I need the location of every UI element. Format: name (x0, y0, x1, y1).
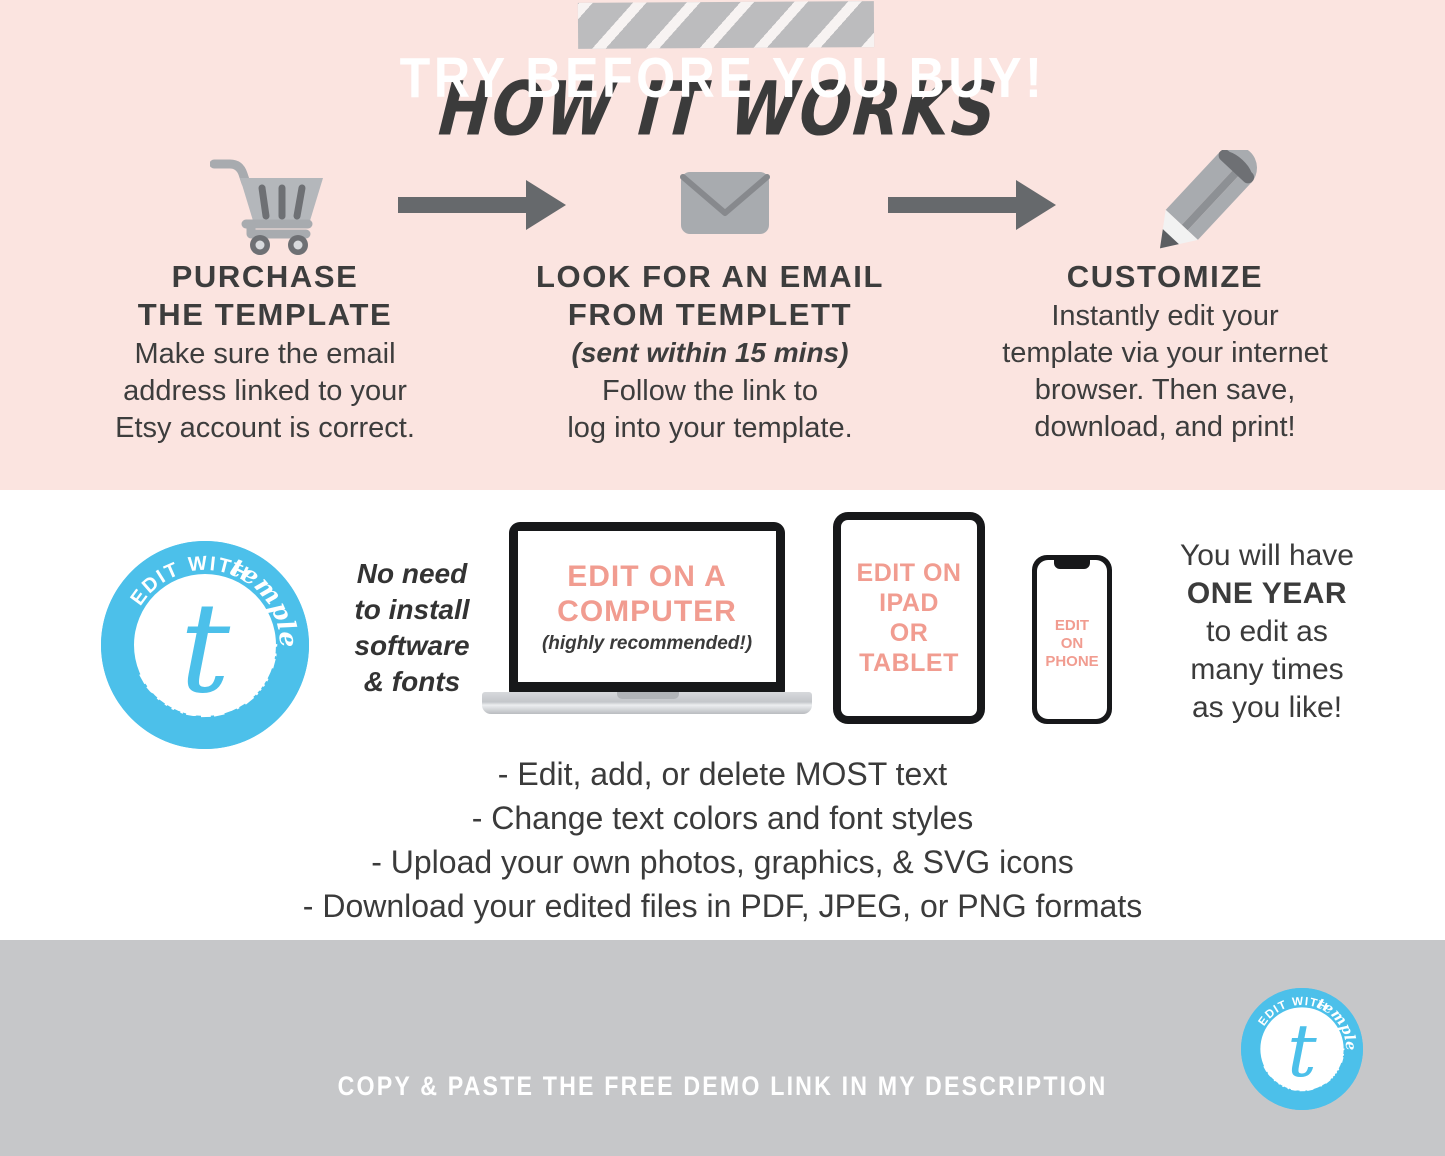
laptop-screen: EDIT ON A COMPUTER (highly recommended!) (518, 531, 776, 682)
step-body: Instantly edit your template via your in… (940, 298, 1390, 446)
templett-badge-large: EDIT WITH templett EDITABLE TEMPLATE t (101, 541, 309, 749)
laptop-mockup: EDIT ON A COMPUTER (highly recommended!) (482, 522, 812, 732)
arrow-right-icon (385, 150, 580, 260)
laptop-screen-title: EDIT ON A COMPUTER (557, 559, 737, 629)
list-item: - Edit, add, or delete MOST text (0, 752, 1445, 796)
envelope-icon (620, 150, 830, 260)
one-year-highlight: ONE YEAR (1187, 577, 1347, 610)
step-customize: CUSTOMIZE Instantly edit your template v… (940, 258, 1390, 447)
try-before-you-buy-banner (0, 940, 1445, 1156)
one-year-line-5: as you like! (1122, 689, 1412, 727)
phone-screen-text: EDIT ON PHONE (1045, 617, 1098, 671)
badge-letter: t (1287, 1009, 1317, 1094)
step-heading: CUSTOMIZE (940, 258, 1390, 296)
one-year-line-1: You will have (1122, 537, 1412, 575)
one-year-line-3: to edit as (1122, 613, 1412, 651)
one-year-line-4: many times (1122, 651, 1412, 689)
no-need-text: No need to install software & fonts (332, 556, 492, 700)
phone-mockup: EDIT ON PHONE (1032, 555, 1112, 724)
step-note: (sent within 15 mins) (490, 334, 930, 371)
step-body: Follow the link to log into your templat… (490, 373, 930, 447)
list-item: - Download your edited files in PDF, JPE… (0, 884, 1445, 928)
templett-badge-small: EDIT WITH templett EDITABLE TEMPLATE t (1241, 988, 1363, 1110)
phone-notch (1054, 560, 1090, 569)
banner-title: TRY BEFORE YOU BUY! (87, 45, 1359, 111)
how-it-works-infographic: HOW IT WORKS (0, 0, 1445, 1156)
laptop-lid: EDIT ON A COMPUTER (highly recommended!) (509, 522, 785, 694)
banner-subtitle: COPY & PASTE THE FREE DEMO LINK IN MY DE… (101, 1071, 1344, 1102)
step-heading: PURCHASE THE TEMPLATE (40, 258, 490, 334)
steps-text-row: PURCHASE THE TEMPLATE Make sure the emai… (0, 258, 1445, 447)
arrow-right-icon (875, 150, 1070, 260)
washi-tape-striped (578, 1, 874, 49)
shopping-cart-icon (155, 150, 385, 260)
step-body: Make sure the email address linked to yo… (40, 336, 490, 447)
features-list: - Edit, add, or delete MOST text - Chang… (0, 752, 1445, 928)
laptop-screen-subtitle: (highly recommended!) (542, 633, 752, 655)
tablet-screen-text: EDIT ON IPAD OR TABLET (857, 558, 962, 678)
list-item: - Upload your own photos, graphics, & SV… (0, 840, 1445, 884)
tablet-screen: EDIT ON IPAD OR TABLET (841, 520, 977, 716)
step-purchase: PURCHASE THE TEMPLATE Make sure the emai… (40, 258, 490, 447)
tablet-mockup: EDIT ON IPAD OR TABLET (833, 512, 985, 724)
phone-screen: EDIT ON PHONE (1037, 560, 1107, 719)
step-look-for-email: LOOK FOR AN EMAIL FROM TEMPLETT (sent wi… (490, 258, 930, 447)
laptop-trackpad-notch (617, 692, 679, 699)
step-icons-row (0, 150, 1445, 260)
pencil-icon (1095, 150, 1325, 260)
step-heading: LOOK FOR AN EMAIL FROM TEMPLETT (490, 258, 930, 334)
list-item: - Change text colors and font styles (0, 796, 1445, 840)
badge-letter: t (180, 576, 231, 721)
one-year-text: You will have ONE YEAR to edit as many t… (1122, 537, 1412, 727)
